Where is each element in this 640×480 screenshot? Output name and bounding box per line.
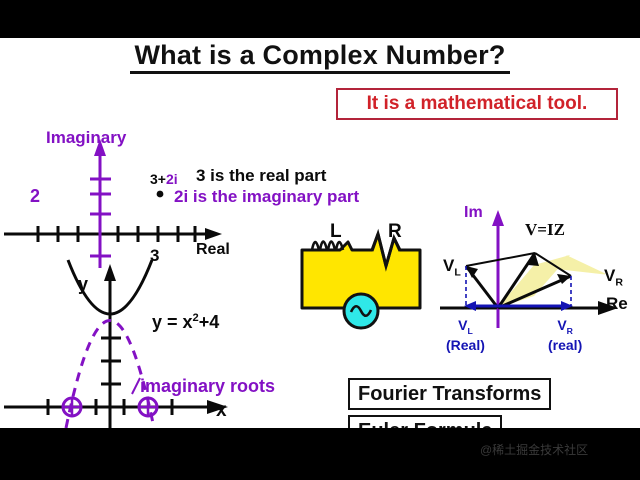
phasor-vr-projection-label: VR (real) bbox=[548, 318, 582, 352]
vl-symbol: V bbox=[443, 256, 454, 275]
keyword-box-fourier: Fourier Transforms bbox=[348, 378, 551, 410]
keyword-euler-text: Euler Formula bbox=[358, 420, 492, 429]
vl-proj-note: (Real) bbox=[446, 338, 485, 352]
phasor-vr-label: VR bbox=[604, 266, 623, 288]
slide-body: What is a Complex Number? It is a mathem… bbox=[0, 38, 640, 428]
vr-proj-note: (real) bbox=[548, 338, 582, 352]
vl-proj-subscript: L bbox=[467, 326, 472, 336]
phasor-vl-projection-label: VL (Real) bbox=[446, 318, 485, 352]
vr-subscript: R bbox=[615, 276, 623, 288]
keyword-fourier-text: Fourier Transforms bbox=[358, 383, 541, 406]
phasor-im-axis-label: Im bbox=[464, 204, 483, 222]
letterbox-top bbox=[0, 0, 640, 38]
vr-proj-symbol: V bbox=[557, 317, 566, 333]
keyword-box-euler: Euler Formula bbox=[348, 415, 502, 428]
phasor-resultant-label: V=IZ bbox=[525, 220, 565, 240]
vr-proj-subscript: R bbox=[567, 326, 573, 336]
phasor-re-axis-label: Re bbox=[606, 294, 628, 314]
vr-symbol: V bbox=[604, 266, 615, 285]
vl-subscript: L bbox=[454, 266, 460, 278]
phasor-vl-label: VL bbox=[443, 256, 461, 278]
slide-canvas: What is a Complex Number? It is a mathem… bbox=[0, 0, 640, 480]
watermark: @稀土掘金技术社区 bbox=[480, 441, 588, 458]
